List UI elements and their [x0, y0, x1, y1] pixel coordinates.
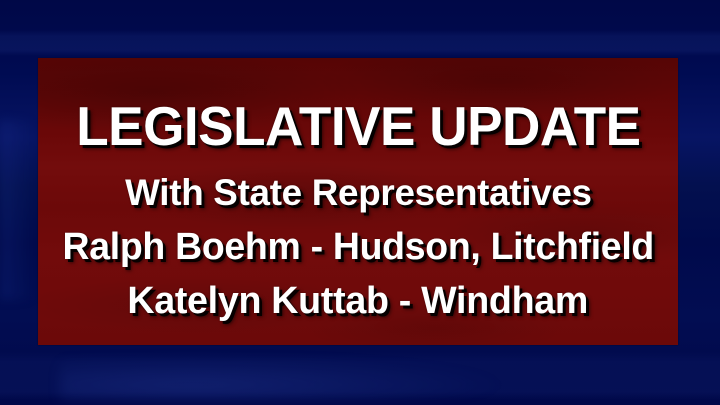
- red-title-panel: LEGISLATIVE UPDATE With State Representa…: [38, 58, 678, 345]
- title-panel-content: LEGISLATIVE UPDATE With State Representa…: [38, 58, 678, 345]
- title-card-screen: LEGISLATIVE UPDATE With State Representa…: [0, 0, 720, 405]
- subtitle-line-2: Ralph Boehm - Hudson, Litchfield: [62, 222, 653, 272]
- background-left-glow: [0, 120, 40, 300]
- background-light-blotch: [60, 356, 500, 404]
- subtitle-line-1: With State Representatives: [125, 168, 592, 218]
- page-title: LEGISLATIVE UPDATE: [76, 98, 640, 154]
- subtitle-line-3: Katelyn Kuttab - Windham: [128, 276, 589, 326]
